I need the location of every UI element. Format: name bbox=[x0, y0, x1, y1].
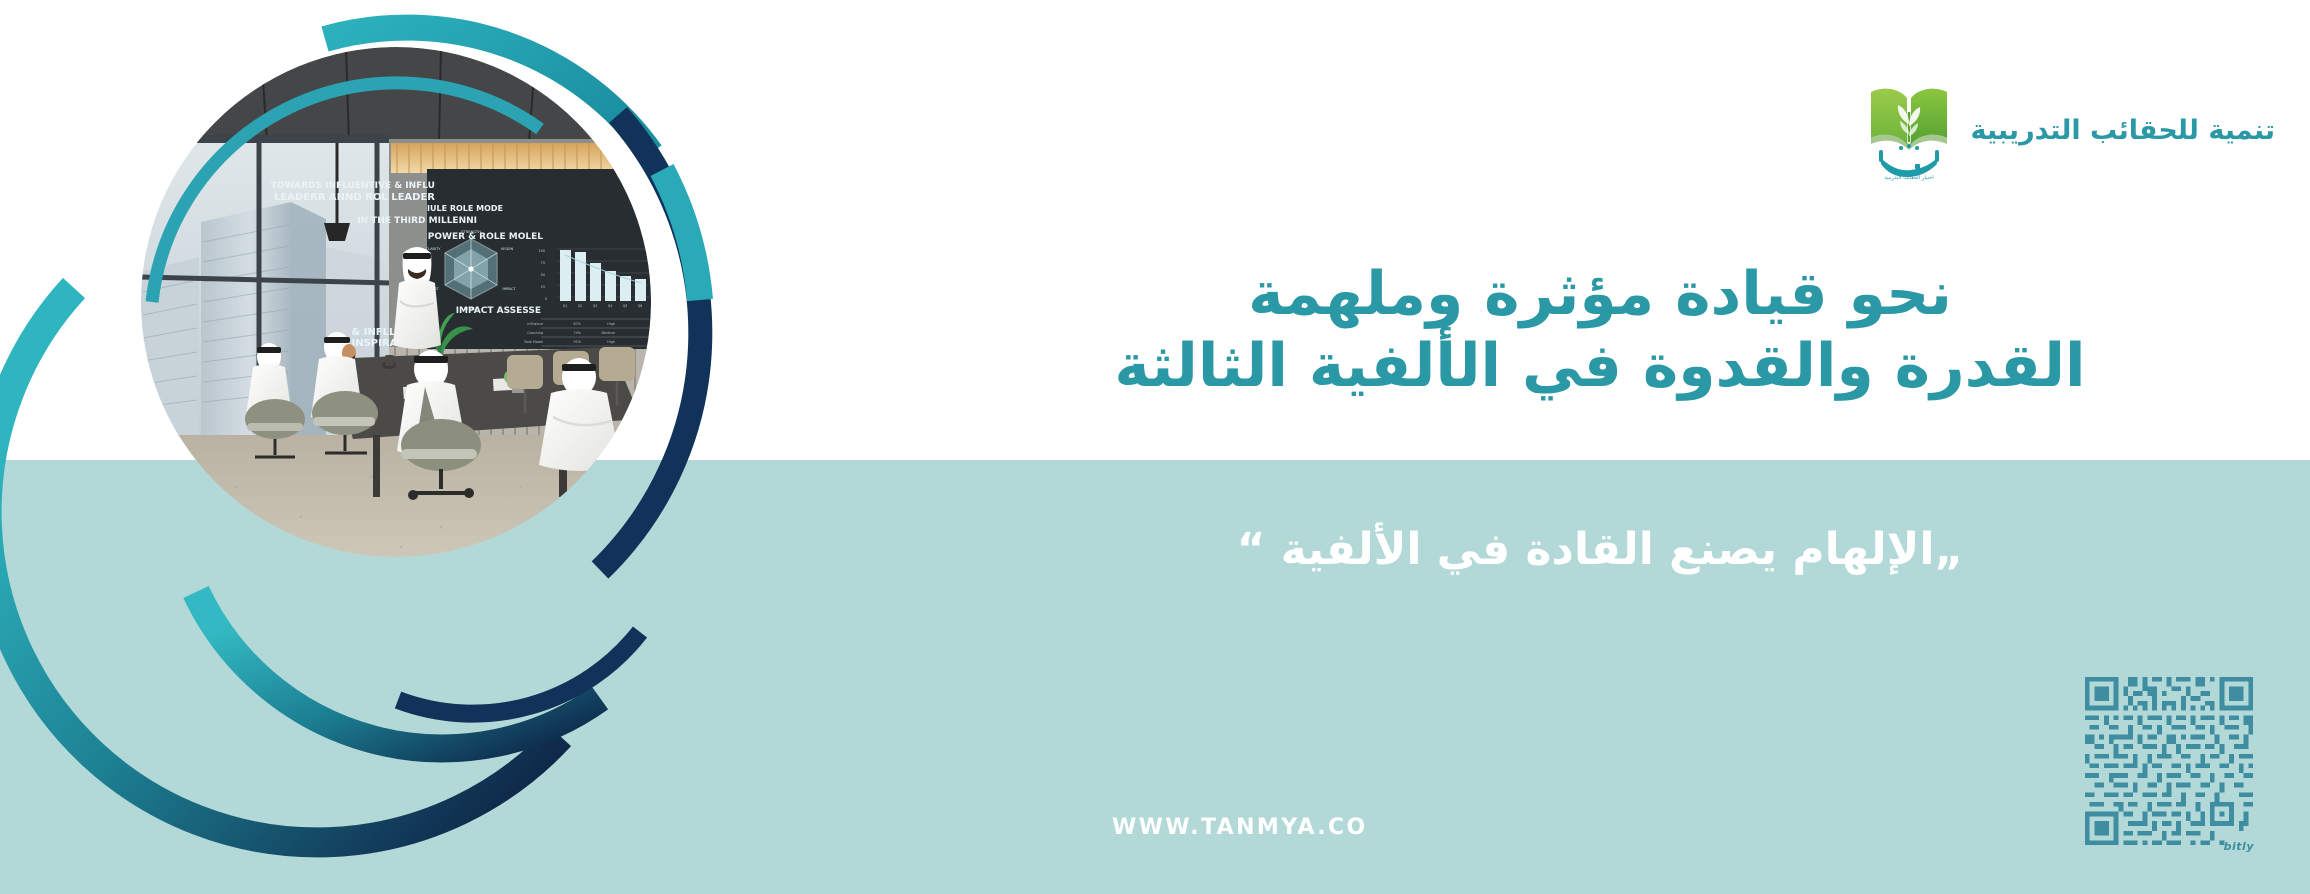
svg-text:Q3: Q3 bbox=[593, 304, 598, 308]
headline-line-2: القدرة والقدوة في الألفية الثالثة bbox=[1000, 330, 2200, 402]
svg-text:IN THE THIRD MILLENNI: IN THE THIRD MILLENNI bbox=[357, 216, 477, 226]
svg-text:91%: 91% bbox=[573, 340, 581, 344]
qr-code-icon bbox=[2080, 672, 2258, 850]
svg-text:74%: 74% bbox=[573, 331, 581, 335]
logo-tagline-text: اختيار الحقائب التدريبية bbox=[1884, 175, 1933, 181]
svg-text:High: High bbox=[607, 322, 615, 326]
website-url[interactable]: WWW.TANMYA.CO bbox=[1112, 815, 1368, 840]
svg-text:Q1: Q1 bbox=[563, 304, 568, 308]
svg-text:TOWARDS INFLUENTIVE & INFLU: TOWARDS INFLUENTIVE & INFLU bbox=[271, 181, 435, 191]
svg-text:IULE ROLE MODE: IULE ROLE MODE bbox=[427, 204, 503, 213]
svg-text:LEADERR ANND ROL LEADER: LEADERR ANND ROL LEADER bbox=[274, 192, 435, 203]
svg-text:Q2: Q2 bbox=[578, 304, 583, 308]
brand-name: تنمية للحقائب التدريبية bbox=[1971, 117, 2275, 144]
svg-text:POWER & ROLE MOLEL: POWER & ROLE MOLEL bbox=[428, 232, 543, 242]
svg-text:High: High bbox=[607, 340, 615, 344]
svg-text:50: 50 bbox=[541, 273, 545, 277]
svg-text:Coaching: Coaching bbox=[527, 331, 543, 335]
svg-text:CLARITY: CLARITY bbox=[426, 247, 442, 251]
svg-text:87%: 87% bbox=[573, 322, 581, 326]
qr-code[interactable]: bitly bbox=[2080, 672, 2258, 857]
svg-text:Influence: Influence bbox=[527, 322, 543, 326]
headline-block: نحو قيادة مؤثرة وملهمة القدرة والقدوة في… bbox=[1000, 258, 2200, 402]
svg-text:100: 100 bbox=[539, 249, 545, 253]
tanmya-book-icon: اختيار الحقائب التدريبية bbox=[1865, 78, 1953, 182]
svg-text:Q6: Q6 bbox=[638, 304, 643, 308]
qr-caption: bitly bbox=[2224, 840, 2254, 853]
svg-text:IMPACT: IMPACT bbox=[502, 287, 516, 291]
svg-text:Q4: Q4 bbox=[608, 304, 613, 308]
tagline-quote: „الإلهام يصنع القادة في الألفية “ bbox=[1000, 522, 2200, 577]
svg-text:Q5: Q5 bbox=[623, 304, 628, 308]
svg-text:0: 0 bbox=[545, 297, 547, 301]
svg-text:Role Model: Role Model bbox=[524, 340, 543, 344]
headline-line-1: نحو قيادة مؤثرة وملهمة bbox=[1000, 258, 2200, 330]
svg-text:Medium: Medium bbox=[601, 331, 615, 335]
brand-logo[interactable]: تنمية للحقائب التدريبية bbox=[1865, 78, 2275, 182]
promo-banner: TOWARDS INFLUENTIVE & INFLU LEADERR ANND… bbox=[0, 0, 2310, 894]
hero-photo: TOWARDS INFLUENTIVE & INFLU LEADERR ANND… bbox=[141, 47, 651, 557]
svg-text:75: 75 bbox=[541, 261, 545, 265]
svg-text:VISION: VISION bbox=[501, 247, 514, 251]
svg-text:25: 25 bbox=[541, 285, 545, 289]
svg-text:IMPACT ASSESSE: IMPACT ASSESSE bbox=[456, 306, 541, 316]
